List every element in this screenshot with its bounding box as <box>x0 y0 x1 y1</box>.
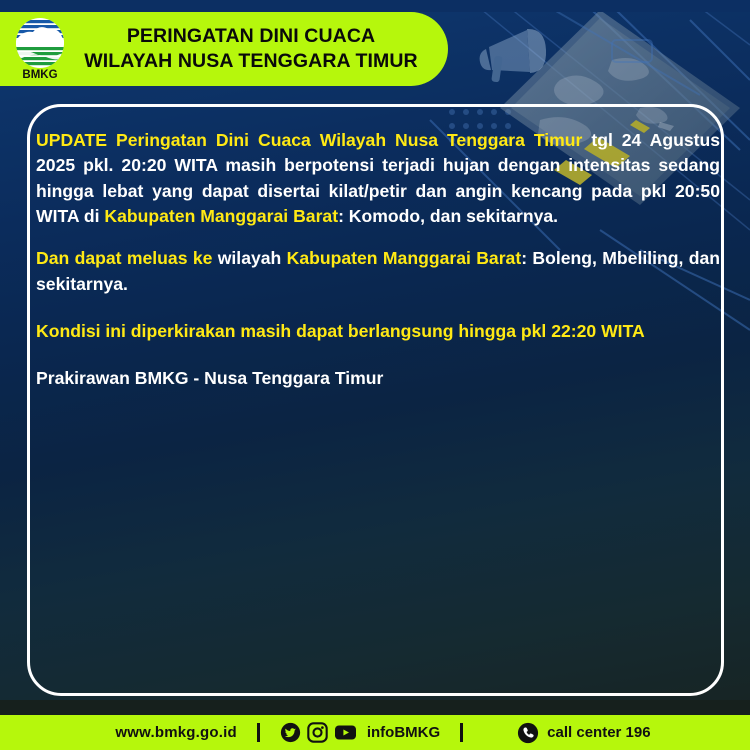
paragraph-3: Kondisi ini diperkirakan masih dapat ber… <box>36 319 720 344</box>
social-handle[interactable]: infoBMKG <box>367 724 440 741</box>
warning-body: UPDATE Peringatan Dini Cuaca Wilayah Nus… <box>36 128 720 392</box>
footer-bar: www.bmkg.go.id infoBMKG <box>0 715 750 750</box>
phone-icon[interactable] <box>517 722 539 744</box>
p1-highlight-region: Kabupaten Manggarai Barat <box>104 206 338 226</box>
website-url[interactable]: www.bmkg.go.id <box>115 724 236 741</box>
p2-highlight-region: Kabupaten Manggarai Barat <box>287 248 522 268</box>
bmkg-weather-warning-poster: BMKG PERINGATAN DINI CUACA WILAYAH NUSA … <box>0 0 750 750</box>
paragraph-1: UPDATE Peringatan Dini Cuaca Wilayah Nus… <box>36 128 720 229</box>
instagram-icon[interactable] <box>307 722 328 743</box>
header-pill: BMKG PERINGATAN DINI CUACA WILAYAH NUSA … <box>0 12 448 86</box>
twitter-icon[interactable] <box>280 722 301 743</box>
paragraph-2: Dan dapat meluas ke wilayah Kabupaten Ma… <box>36 246 720 297</box>
paragraph-4-signature: Prakirawan BMKG - Nusa Tenggara Timur <box>36 366 720 391</box>
footer-dark-strip <box>0 700 750 715</box>
p1-highlight-title: UPDATE Peringatan Dini Cuaca Wilayah Nus… <box>36 130 582 150</box>
bmkg-logo-text: BMKG <box>22 69 57 81</box>
footer-divider-1 <box>257 723 260 742</box>
social-links: infoBMKG <box>280 722 440 743</box>
call-center-block: call center 196 <box>517 722 650 744</box>
youtube-icon[interactable] <box>334 722 357 743</box>
bmkg-logo: BMKG <box>8 17 72 81</box>
p1-plain-2: : Komodo, dan sekitarnya. <box>338 206 558 226</box>
p3-highlight: Kondisi ini diperkirakan masih dapat ber… <box>36 321 645 341</box>
footer-divider-2 <box>460 723 463 742</box>
p2-highlight-lead: Dan dapat meluas ke <box>36 248 218 268</box>
page-title: PERINGATAN DINI CUACA WILAYAH NUSA TENGG… <box>78 24 448 74</box>
header-top-band <box>0 0 750 12</box>
call-center-text[interactable]: call center 196 <box>547 724 650 741</box>
bmkg-logo-icon: BMKG <box>10 17 70 81</box>
megaphone-icon <box>480 29 546 82</box>
p2-plain-1: wilayah <box>218 248 287 268</box>
